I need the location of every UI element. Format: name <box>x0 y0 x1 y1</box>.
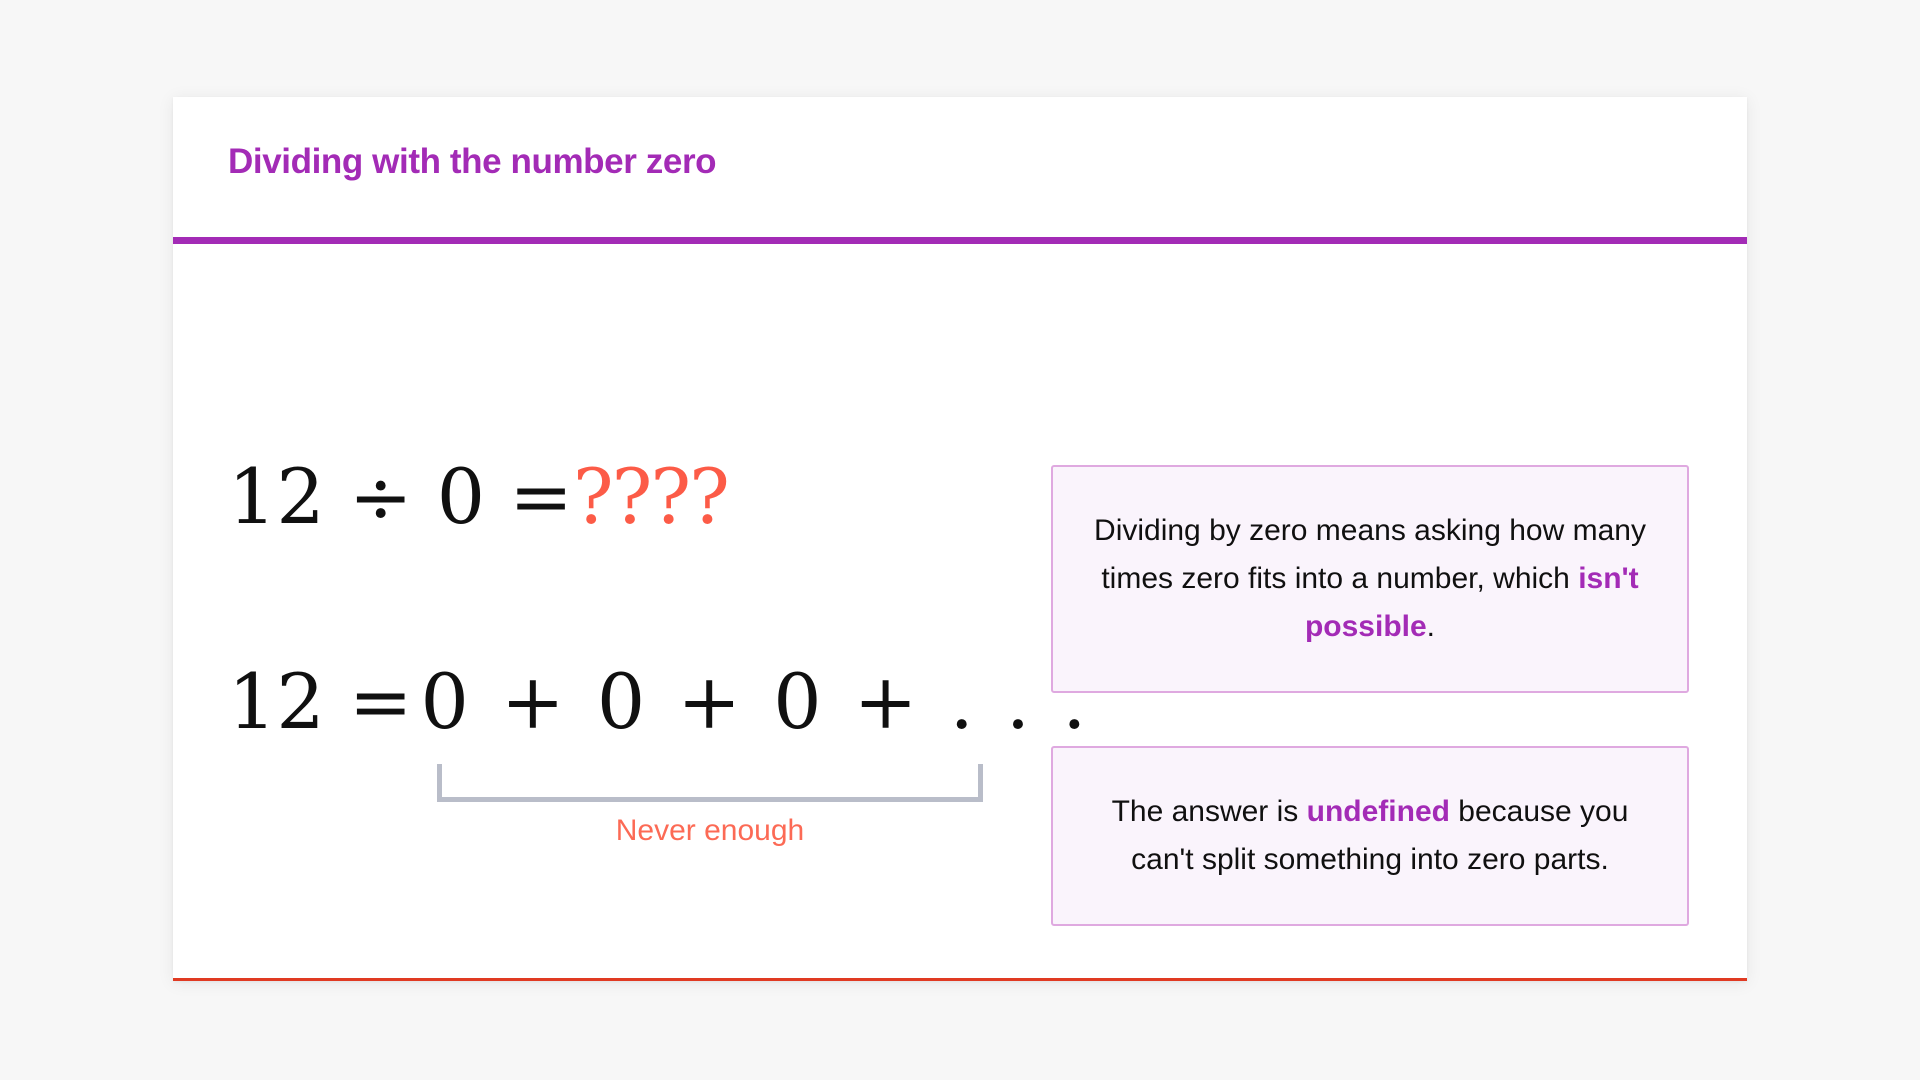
explanation-2-prefix: The answer is <box>1112 795 1307 828</box>
equation-1-lhs: 12 ÷ 0 = <box>228 452 573 541</box>
math-pane: 12 ÷ 0 =???? 12 =0 + 0 + 0 + . . . Never… <box>173 244 1033 981</box>
equation-2-lhs: 12 = <box>228 657 413 746</box>
explanation-2-highlight: undefined <box>1307 795 1450 828</box>
card-body: 12 ÷ 0 =???? 12 =0 + 0 + 0 + . . . Never… <box>173 244 1747 981</box>
underbrace-bracket <box>437 764 983 802</box>
equation-division-by-zero: 12 ÷ 0 =???? <box>228 459 728 535</box>
equation-1-unknown-result: ???? <box>573 452 728 541</box>
explanation-text-1: Dividing by zero means asking how many t… <box>1090 507 1650 651</box>
card-header: Dividing with the number zero <box>173 97 1747 237</box>
explanation-1-suffix: . <box>1427 610 1435 643</box>
card-bottom-accent-rule <box>173 978 1747 981</box>
equation-repeated-addition: 12 =0 + 0 + 0 + . . . <box>228 664 1090 740</box>
notes-pane: Dividing by zero means asking how many t… <box>1033 244 1747 981</box>
explanation-1-prefix: Dividing by zero means asking how many t… <box>1094 514 1646 595</box>
page-title: Dividing with the number zero <box>228 142 716 182</box>
title-divider <box>173 237 1747 244</box>
explanation-box-2: The answer is undefined because you can'… <box>1051 746 1689 926</box>
equation-2-series: 0 + 0 + 0 + . . . <box>421 657 1091 746</box>
lesson-card: Dividing with the number zero 12 ÷ 0 =??… <box>173 97 1747 981</box>
bracket-annotation-label: Never enough <box>437 814 983 848</box>
explanation-text-2: The answer is undefined because you can'… <box>1090 788 1650 884</box>
slide-canvas: Dividing with the number zero 12 ÷ 0 =??… <box>0 0 1920 1080</box>
explanation-box-1: Dividing by zero means asking how many t… <box>1051 465 1689 693</box>
